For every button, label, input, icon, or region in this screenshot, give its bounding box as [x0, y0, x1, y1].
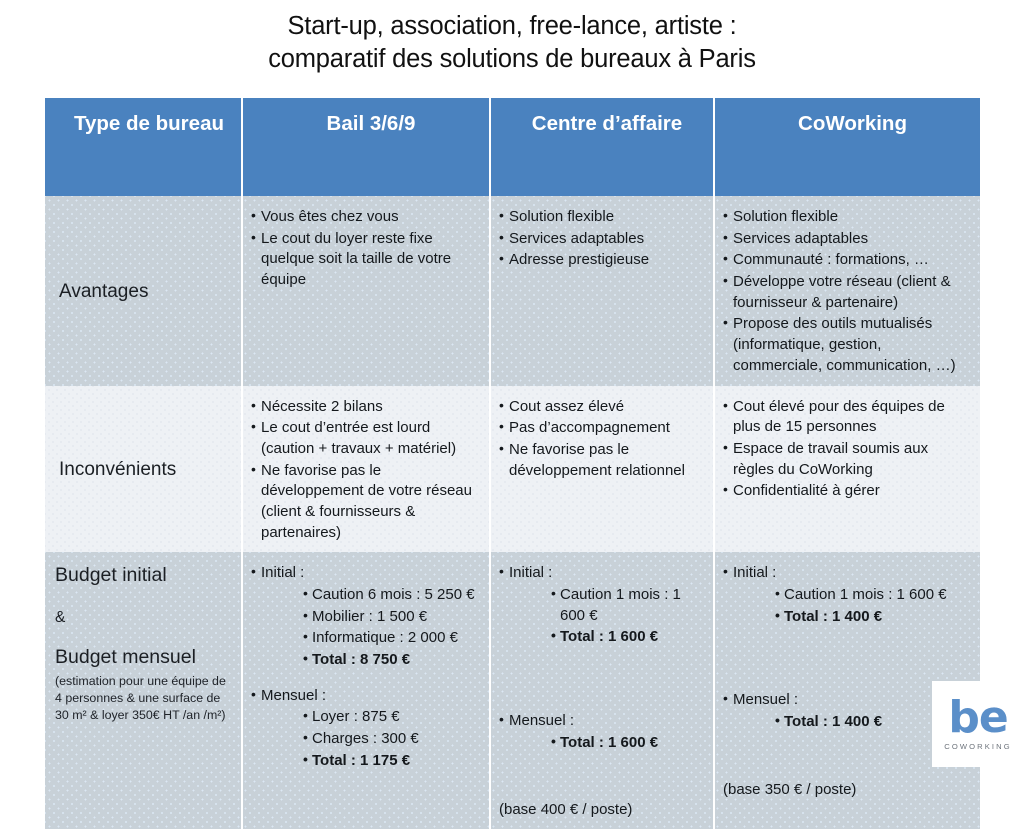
list-item: Cout élevé pour des équipes de plus de 1…	[723, 397, 970, 438]
list-item: Pas d’accompagnement	[499, 418, 703, 439]
be-coworking-logo: be COWORKING	[932, 681, 1024, 767]
base-price-note: (base 400 € / poste)	[499, 800, 703, 821]
list-item: Nécessite 2 bilans	[251, 397, 479, 418]
cell-avantages-bail: Vous êtes chez vous Le cout du loyer res…	[241, 196, 489, 386]
table-row-inconvenients: Inconvénients Nécessite 2 bilans Le cout…	[45, 386, 980, 553]
comparison-table-wrapper: Type de bureau Bail 3/6/9 Centre d’affai…	[45, 98, 980, 765]
budget-initial-label: Budget initial	[55, 563, 231, 587]
budget-label-block: Budget initial & Budget mensuel (estimat…	[55, 563, 231, 723]
logo-subtitle: COWORKING	[944, 742, 1011, 751]
logo-wordmark: be	[948, 697, 1007, 739]
budget-estimation-note: (estimation pour une équipe de 4 personn…	[55, 673, 231, 723]
list-item-total: Total : 1 600 €	[551, 627, 703, 648]
page-title: Start-up, association, free-lance, artis…	[0, 0, 1024, 75]
list-item: Ne favorise pas le développement de votr…	[251, 461, 479, 544]
list-item-total: Total : 8 750 €	[303, 650, 479, 671]
list-item: Caution 1 mois : 1 600 €	[775, 585, 970, 606]
list-item: Loyer : 875 €	[303, 707, 479, 728]
table-header-row: Type de bureau Bail 3/6/9 Centre d’affai…	[45, 98, 980, 196]
bullet-list-mensuel: Mensuel :	[499, 711, 703, 732]
list-item-header: Initial :	[723, 563, 970, 584]
list-item-header: Initial :	[499, 563, 703, 584]
list-item-total: Total : 1 175 €	[303, 751, 479, 772]
page-title-line-1: Start-up, association, free-lance, artis…	[60, 10, 964, 43]
table-row-budget: Budget initial & Budget mensuel (estimat…	[45, 552, 980, 829]
row-label-inconvenients: Inconvénients	[45, 386, 241, 553]
bullet-sublist-initial: Caution 1 mois : 1 600 € Total : 1 400 €	[775, 585, 970, 627]
bullet-list: Nécessite 2 bilans Le cout d’entrée est …	[251, 397, 479, 544]
list-item: Vous êtes chez vous	[251, 207, 479, 228]
row-label-avantages: Avantages	[45, 196, 241, 386]
cell-inconvenients-bail: Nécessite 2 bilans Le cout d’entrée est …	[241, 386, 489, 553]
spacer	[499, 649, 703, 711]
bullet-list-initial: Initial :	[723, 563, 970, 584]
bullet-list-mensuel: Mensuel :	[251, 686, 479, 707]
list-item: Caution 1 mois : 1 600 €	[551, 585, 703, 626]
list-item: Services adaptables	[723, 229, 970, 250]
spacer	[251, 672, 479, 686]
bullet-list: Cout assez élevé Pas d’accompagnement Ne…	[499, 397, 703, 482]
comparison-table: Type de bureau Bail 3/6/9 Centre d’affai…	[45, 98, 980, 829]
cell-budget-centre: Initial : Caution 1 mois : 1 600 € Total…	[489, 552, 713, 829]
list-item: Services adaptables	[499, 229, 703, 250]
cell-avantages-coworking: Solution flexible Services adaptables Co…	[713, 196, 980, 386]
list-item: Développe votre réseau (client & fournis…	[723, 272, 970, 313]
bullet-list-initial: Initial :	[251, 563, 479, 584]
page-title-line-2: comparatif des solutions de bureaux à Pa…	[60, 43, 964, 76]
list-item: Solution flexible	[723, 207, 970, 228]
budget-mensuel-label: Budget mensuel	[55, 645, 231, 669]
bullet-sublist-mensuel: Loyer : 875 € Charges : 300 € Total : 1 …	[303, 707, 479, 771]
list-item: Informatique : 2 000 €	[303, 628, 479, 649]
bullet-sublist-mensuel: Total : 1 600 €	[551, 733, 703, 754]
column-header-type: Type de bureau	[45, 98, 241, 196]
budget-ampersand: &	[55, 608, 231, 627]
column-header-bail: Bail 3/6/9	[241, 98, 489, 196]
list-item: Cout assez élevé	[499, 397, 703, 418]
list-item: Propose des outils mutualisés (informati…	[723, 314, 970, 376]
bullet-list: Cout élevé pour des équipes de plus de 1…	[723, 397, 970, 502]
cell-inconvenients-centre: Cout assez élevé Pas d’accompagnement Ne…	[489, 386, 713, 553]
bullet-list: Solution flexible Services adaptables Co…	[723, 207, 970, 377]
cell-budget-bail: Initial : Caution 6 mois : 5 250 € Mobil…	[241, 552, 489, 829]
list-item: Ne favorise pas le développement relatio…	[499, 440, 703, 481]
list-item: Adresse prestigieuse	[499, 250, 703, 271]
spacer	[499, 754, 703, 794]
list-item-header: Mensuel :	[499, 711, 703, 732]
list-item: Le cout du loyer reste fixe quelque soit…	[251, 229, 479, 291]
list-item-header: Initial :	[251, 563, 479, 584]
list-item: Solution flexible	[499, 207, 703, 228]
base-price-note: (base 350 € / poste)	[723, 780, 970, 801]
list-item: Le cout d’entrée est lourd (caution + tr…	[251, 418, 479, 459]
column-header-coworking: CoWorking	[713, 98, 980, 196]
list-item-total: Total : 1 600 €	[551, 733, 703, 754]
list-item: Mobilier : 1 500 €	[303, 607, 479, 628]
list-item: Confidentialité à gérer	[723, 481, 970, 502]
list-item-header: Mensuel :	[251, 686, 479, 707]
list-item-total: Total : 1 400 €	[775, 607, 970, 628]
table-row-avantages: Avantages Vous êtes chez vous Le cout du…	[45, 196, 980, 386]
row-label-budget: Budget initial & Budget mensuel (estimat…	[45, 552, 241, 829]
bullet-list: Vous êtes chez vous Le cout du loyer res…	[251, 207, 479, 291]
cell-avantages-centre: Solution flexible Services adaptables Ad…	[489, 196, 713, 386]
list-item: Communauté : formations, …	[723, 250, 970, 271]
bullet-list-initial: Initial :	[499, 563, 703, 584]
bullet-list: Solution flexible Services adaptables Ad…	[499, 207, 703, 271]
bullet-sublist-initial: Caution 6 mois : 5 250 € Mobilier : 1 50…	[303, 585, 479, 671]
bullet-sublist-initial: Caution 1 mois : 1 600 € Total : 1 600 €	[551, 585, 703, 648]
list-item: Espace de travail soumis aux règles du C…	[723, 439, 970, 480]
list-item: Caution 6 mois : 5 250 €	[303, 585, 479, 606]
list-item: Charges : 300 €	[303, 729, 479, 750]
column-header-centre: Centre d’affaire	[489, 98, 713, 196]
cell-inconvenients-coworking: Cout élevé pour des équipes de plus de 1…	[713, 386, 980, 553]
